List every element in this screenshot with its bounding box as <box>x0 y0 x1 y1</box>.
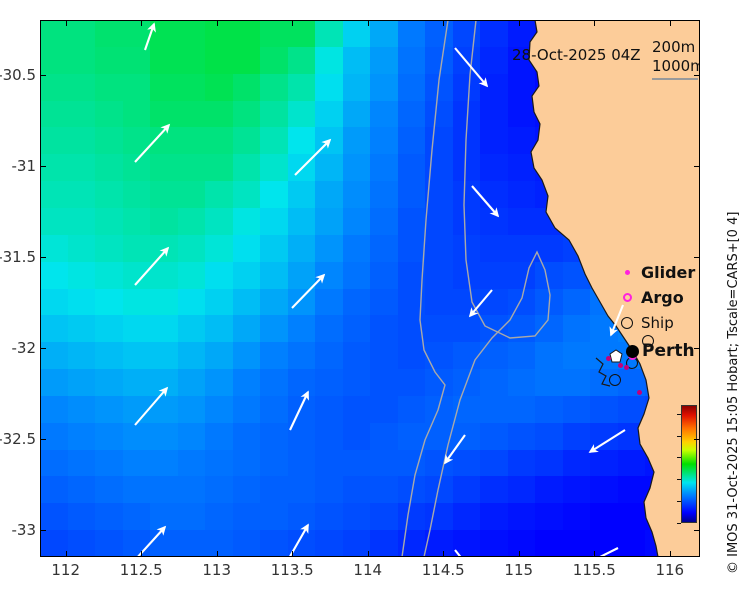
map-marker-glider <box>624 365 629 370</box>
map-marker-glider <box>618 363 623 368</box>
legend-label-argo: Argo <box>641 288 684 307</box>
y-axis-tick <box>694 530 700 531</box>
city-label-perth: Perth <box>642 341 695 361</box>
wind-arrow <box>455 48 487 86</box>
y-axis-tick-left <box>40 75 46 76</box>
wind-arrow <box>470 290 492 316</box>
y-axis-label: -32.5 <box>0 430 36 448</box>
x-axis-tick <box>519 551 520 557</box>
wind-arrow <box>135 388 167 425</box>
wind-arrow <box>590 430 625 452</box>
wind-vector-arrows <box>40 20 700 557</box>
x-axis-label: 115.5 <box>573 561 616 579</box>
map-marker-glider <box>606 356 611 361</box>
colorbar-tick <box>677 523 681 524</box>
bathymetry-depth-key: 200m 1000m <box>652 38 700 76</box>
map-marker-glider <box>637 390 642 395</box>
wind-arrow <box>145 24 154 50</box>
y-axis-tick <box>694 257 700 258</box>
colorbar-tick <box>677 457 681 458</box>
legend-item-glider: Glider <box>613 260 695 285</box>
wind-arrow <box>290 392 308 430</box>
glider-dot-icon <box>613 270 641 275</box>
y-axis-label: -32 <box>12 339 37 357</box>
x-axis-tick-top <box>217 20 218 26</box>
y-axis-label: -33 <box>12 521 37 539</box>
x-axis-label: 113.5 <box>271 561 314 579</box>
wind-arrow <box>292 275 324 308</box>
y-axis-label: -30.5 <box>0 66 36 84</box>
x-axis-tick <box>66 551 67 557</box>
y-axis-tick-left <box>40 530 46 531</box>
y-axis-label: -31 <box>12 157 37 175</box>
wind-arrow <box>135 527 165 557</box>
x-axis-tick <box>443 551 444 557</box>
x-axis-label: 114 <box>353 561 382 579</box>
x-axis-label: 115 <box>504 561 533 579</box>
colorbar-tick <box>677 501 681 502</box>
y-axis-tick-left <box>40 166 46 167</box>
city-dot-icon <box>626 345 639 358</box>
y-axis-tick-left <box>40 257 46 258</box>
x-axis-tick-top <box>670 20 671 26</box>
x-axis-label: 116 <box>655 561 684 579</box>
wind-arrow <box>472 186 498 216</box>
wind-arrow <box>445 435 465 463</box>
x-axis-tick-top <box>141 20 142 26</box>
depth-key-rule <box>652 78 698 80</box>
x-axis-tick <box>217 551 218 557</box>
x-axis-label: 114.5 <box>422 561 465 579</box>
y-axis-tick <box>694 75 700 76</box>
colorbar-tick <box>677 479 681 480</box>
depth-label-200: 200m <box>652 38 700 57</box>
x-axis-tick-top <box>66 20 67 26</box>
figure-root: 28-Oct-2025 04Z 200m 1000m Glider Argo <box>0 0 740 592</box>
colorbar-gradient <box>681 405 697 523</box>
x-axis-tick-top <box>519 20 520 26</box>
map-marker-ship <box>609 374 621 386</box>
legend-label-ship: Ship <box>641 314 674 332</box>
y-axis-tick <box>694 166 700 167</box>
x-axis-tick <box>292 551 293 557</box>
y-axis-tick <box>694 348 700 349</box>
credit-text: © IMOS 31-Oct-2025 15:05 Hobart; Tscale=… <box>726 212 740 574</box>
y-axis-label: -31.5 <box>0 248 36 266</box>
x-axis-tick <box>368 551 369 557</box>
x-axis-tick-top <box>292 20 293 26</box>
legend-item-argo: Argo <box>613 285 695 310</box>
depth-label-1000: 1000m <box>652 57 700 76</box>
x-axis-tick <box>141 551 142 557</box>
wind-arrow <box>135 125 169 162</box>
x-axis-tick <box>670 551 671 557</box>
y-axis-tick <box>694 439 700 440</box>
x-axis-tick-top <box>368 20 369 26</box>
legend-label-glider: Glider <box>641 263 695 282</box>
argo-ring-icon <box>613 293 641 302</box>
colorbar-tick <box>677 414 681 415</box>
y-axis-tick-left <box>40 439 46 440</box>
wind-arrow <box>455 550 479 557</box>
x-axis-label: 113 <box>202 561 231 579</box>
date-stamp: 28-Oct-2025 04Z <box>512 46 641 64</box>
wind-arrow <box>295 140 330 175</box>
colorbar-tick <box>677 436 681 437</box>
x-axis-tick <box>594 551 595 557</box>
wind-arrow <box>135 248 168 285</box>
ship-ring-icon <box>613 317 641 329</box>
x-axis-label: 112 <box>51 561 80 579</box>
wind-arrow <box>288 525 308 557</box>
x-axis-tick-top <box>443 20 444 26</box>
platform-legend: Glider Argo Ship <box>613 260 695 335</box>
y-axis-tick-left <box>40 348 46 349</box>
x-axis-tick-top <box>594 20 595 26</box>
colorbar: 0510152025 <box>681 405 697 523</box>
legend-item-ship: Ship <box>613 310 695 335</box>
x-axis-label: 112.5 <box>120 561 163 579</box>
map-plot-area[interactable]: 28-Oct-2025 04Z 200m 1000m Glider Argo <box>40 20 700 557</box>
